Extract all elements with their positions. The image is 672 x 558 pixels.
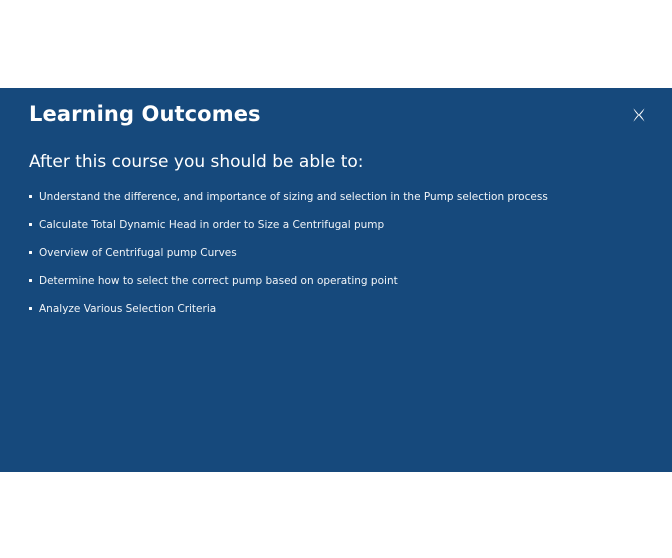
bullet-icon [29, 307, 32, 310]
bullet-icon [29, 195, 32, 198]
slide-root: Learning Outcomes After this course you … [0, 0, 672, 558]
close-x-icon [630, 106, 648, 124]
list-item-label: Analyze Various Selection Criteria [39, 303, 216, 315]
panel-header: Learning Outcomes [0, 88, 672, 150]
list-item: Analyze Various Selection Criteria [29, 302, 639, 316]
learning-outcomes-panel: Learning Outcomes After this course you … [0, 88, 672, 472]
list-item: Determine how to select the correct pump… [29, 274, 639, 288]
bullet-icon [29, 279, 32, 282]
page-title: Learning Outcomes [29, 100, 261, 128]
bullet-icon [29, 223, 32, 226]
list-item-label: Understand the difference, and importanc… [39, 191, 548, 203]
bullet-icon [29, 251, 32, 254]
intro-text: After this course you should be able to: [29, 150, 364, 174]
list-item-label: Determine how to select the correct pump… [39, 275, 398, 287]
list-item: Understand the difference, and importanc… [29, 190, 639, 204]
outcomes-list: Understand the difference, and importanc… [29, 190, 639, 316]
list-item: Overview of Centrifugal pump Curves [29, 246, 639, 260]
list-item: Calculate Total Dynamic Head in order to… [29, 218, 639, 232]
list-item-label: Overview of Centrifugal pump Curves [39, 247, 237, 259]
list-item-label: Calculate Total Dynamic Head in order to… [39, 219, 384, 231]
close-button[interactable] [628, 104, 650, 126]
